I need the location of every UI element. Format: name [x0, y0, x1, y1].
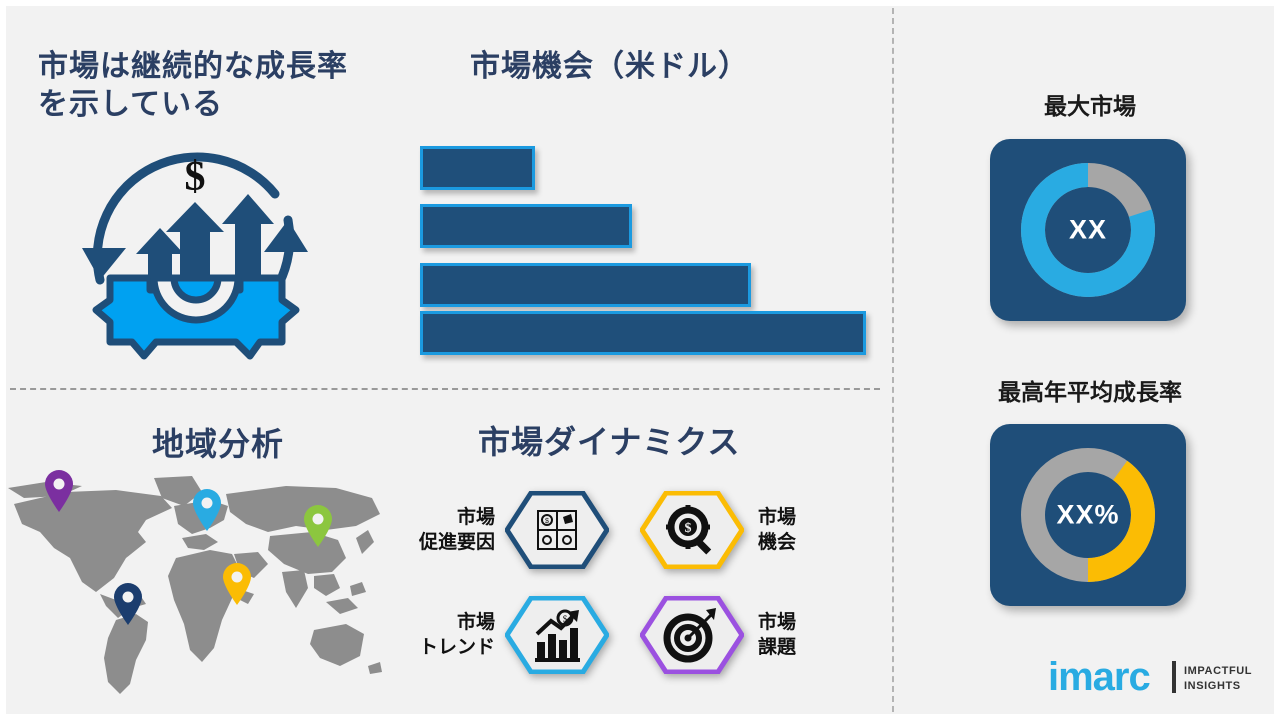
hexagon-navy: $ — [505, 491, 609, 569]
hexagon-yellow: $ — [640, 491, 744, 569]
imarc-logo: imarc IMPACTFUL INSIGHTS — [1048, 655, 1258, 703]
pin-east-asia — [303, 505, 333, 547]
dynamics-item-market-drivers[interactable]: 市場 促進要因 $ — [395, 487, 635, 573]
svg-text:$: $ — [185, 154, 206, 200]
dynamics-item-label: 市場 トレンド — [395, 610, 495, 660]
logo-tagline-line2: INSIGHTS — [1184, 679, 1252, 694]
pin-europe — [192, 489, 222, 531]
logo-tagline: IMPACTFUL INSIGHTS — [1184, 664, 1252, 694]
largest-market-donut-chart — [1013, 155, 1163, 305]
highest-cagr-title: 最高年平均成長率 — [940, 378, 1240, 408]
dynamics-item-label: 市場 課題 — [758, 610, 868, 660]
dynamics-section-title: 市場ダイナミクス — [478, 422, 838, 462]
pin-middle-east — [222, 563, 252, 605]
svg-text:$: $ — [545, 518, 549, 525]
svg-text:$: $ — [563, 614, 568, 624]
logo-wordmark: imarc — [1048, 657, 1150, 697]
dynamics-item-label: 市場 促進要因 — [395, 505, 495, 555]
market-opportunity-bar-chart — [420, 146, 880, 351]
regional-section-title: 地域分析 — [152, 424, 452, 464]
dynamics-item-market-trends[interactable]: 市場 トレンド $ — [395, 592, 635, 678]
growth-cycle-gear-icon: $ — [70, 128, 320, 368]
infographic-slide: 市場は継続的な成長率 を示している $ 市場機会（米ドル — [0, 0, 1280, 720]
bar-4 — [420, 311, 866, 355]
hexagon-purple — [640, 596, 744, 674]
hexagon-cyan: $ — [505, 596, 609, 674]
highest-cagr-donut-chart — [1013, 440, 1163, 590]
opportunity-section-title: 市場機会（米ドル） — [470, 48, 890, 86]
logo-tagline-line1: IMPACTFUL — [1184, 664, 1252, 679]
growth-section-title: 市場は継続的な成長率 を示している — [38, 48, 398, 123]
divider-horizontal-left — [10, 388, 880, 390]
svg-text:$: $ — [685, 521, 692, 536]
pin-south-america — [113, 583, 143, 625]
dynamics-item-label: 市場 機会 — [758, 505, 868, 555]
dynamics-item-market-challenges[interactable]: 市場 課題 — [640, 592, 880, 678]
bar-1 — [420, 146, 535, 190]
highest-cagr-donut-card: XX% — [990, 424, 1186, 606]
bar-3 — [420, 263, 751, 307]
bar-2 — [420, 204, 632, 248]
largest-market-title: 最大市場 — [940, 92, 1240, 122]
logo-divider — [1172, 661, 1176, 693]
pin-north-america — [44, 470, 74, 512]
divider-vertical-right — [892, 8, 894, 712]
dynamics-item-market-opportunities[interactable]: $ 市場 機会 — [640, 487, 880, 573]
largest-market-donut-card: XX — [990, 139, 1186, 321]
